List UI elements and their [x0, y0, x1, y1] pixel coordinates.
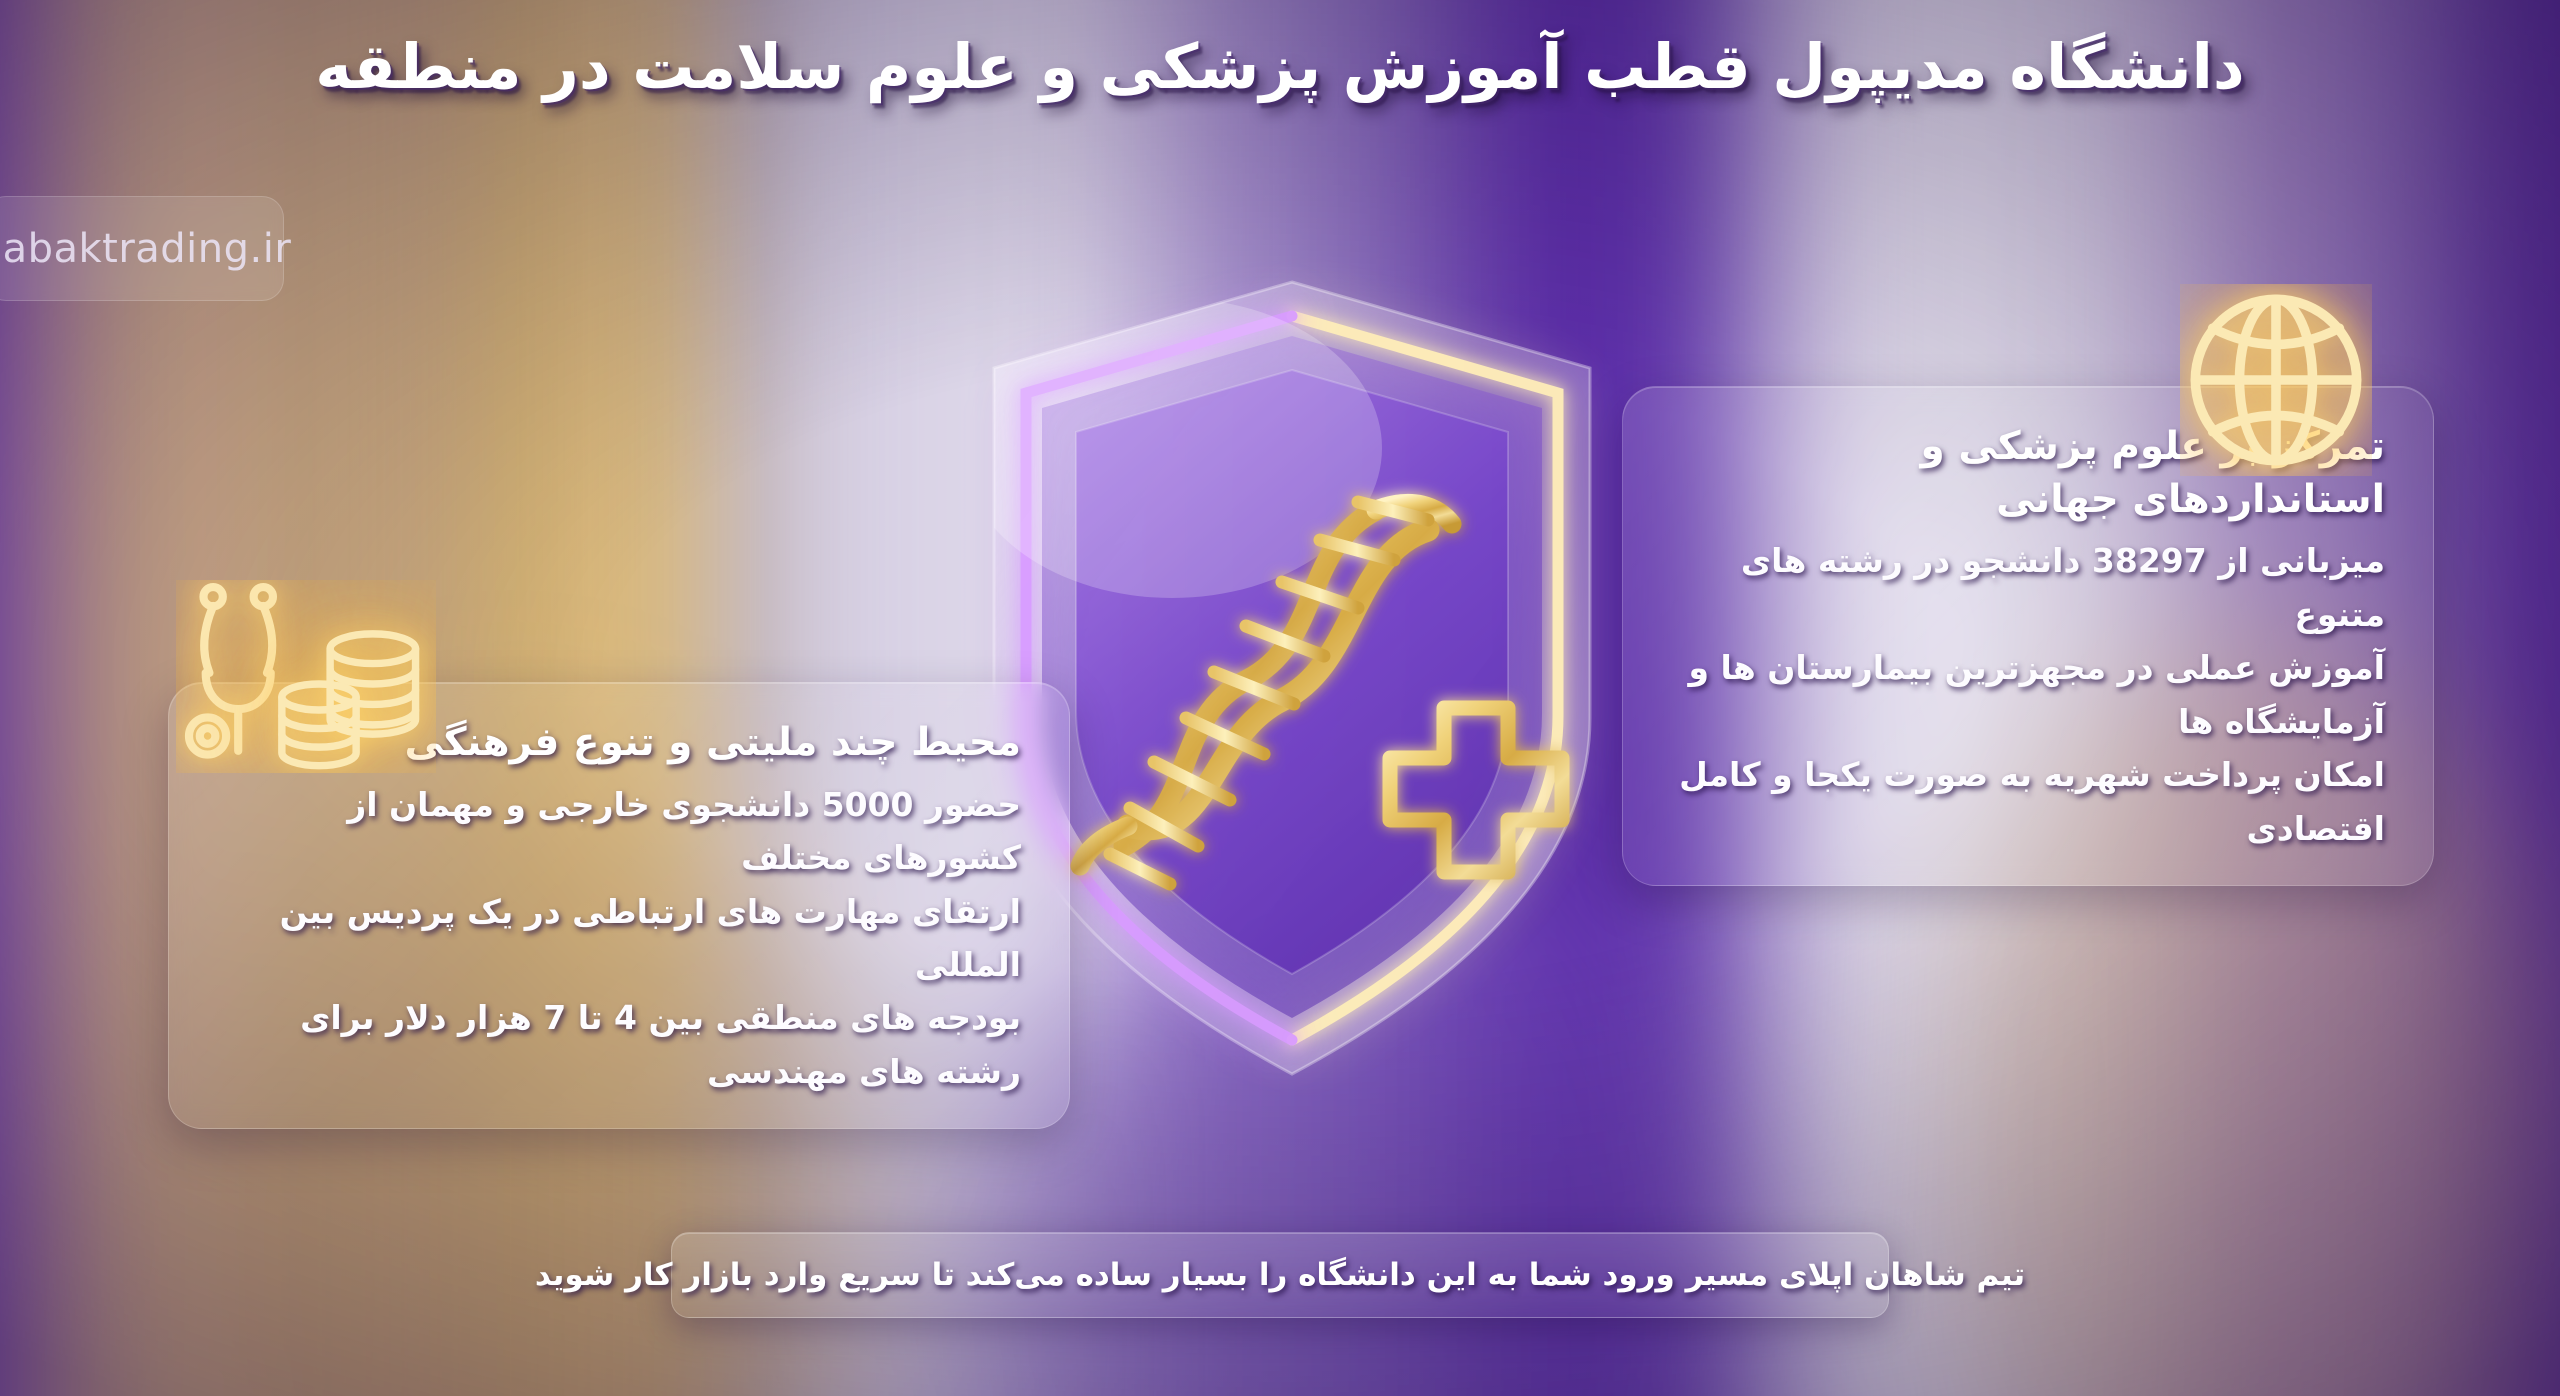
globe-icon — [2180, 284, 2372, 476]
card-line: بودجه های منطقی بین 4 تا 7 هزار دلار برا… — [217, 991, 1021, 1098]
shield-highlight — [962, 298, 1382, 598]
card-line: امکان پرداخت شهریه به صورت یکجا و کامل ا… — [1671, 748, 2385, 855]
cta-banner: تیم شاهان اپلای مسیر ورود شما به این دان… — [671, 1232, 1889, 1318]
cta-banner-text: تیم شاهان اپلای مسیر ورود شما به این دان… — [535, 1257, 2025, 1293]
infographic-canvas: دانشگاه مدیپول قطب آموزش پزشکی و علوم سل… — [0, 0, 2560, 1396]
card-line: میزبانی از 38297 دانشجو در رشته های متنو… — [1671, 534, 2385, 641]
card-line: حضور 5000 دانشجوی خارجی و مهمان از کشوره… — [217, 778, 1021, 885]
card-line: ارتقای مهارت های ارتباطی در یک پردیس بین… — [217, 885, 1021, 992]
watermark-label: babaktrading.ir — [0, 226, 291, 272]
stethoscope-coins-icon — [176, 580, 436, 770]
card-line: آموزش عملی در مجهزترین بیمارستان ها و آز… — [1671, 641, 2385, 748]
watermark-badge: babaktrading.ir — [0, 196, 284, 301]
